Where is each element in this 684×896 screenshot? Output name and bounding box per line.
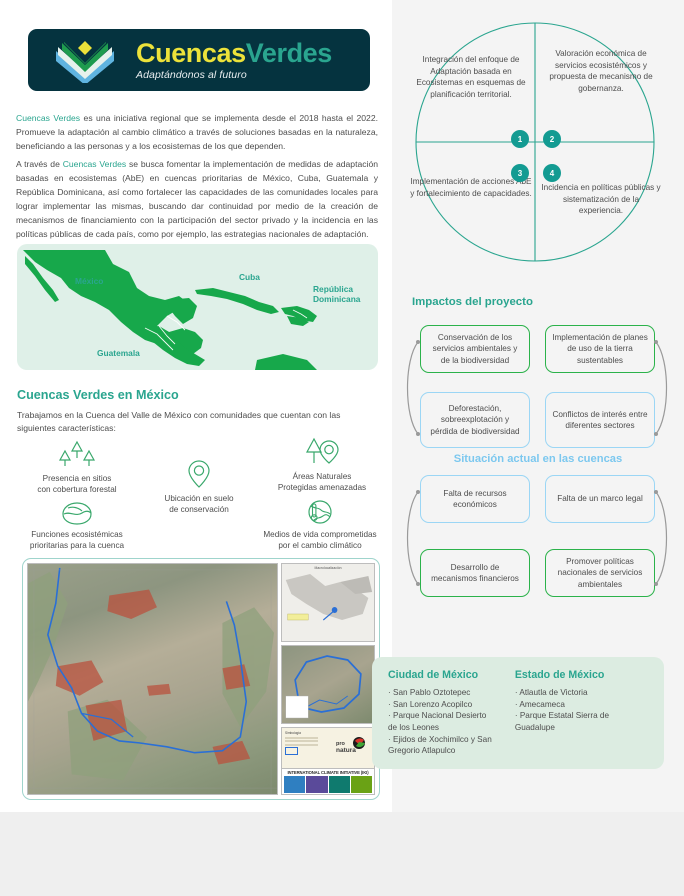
intro-p2-pre: A través de xyxy=(16,159,63,169)
map-label-mexico: México xyxy=(75,276,103,286)
satellite-legend: Simbología xyxy=(282,728,330,768)
pronatura-mark-small: pro natura xyxy=(335,736,369,760)
locations-cdmx-title: Ciudad de México xyxy=(388,669,515,681)
locations-column-cdmx: Ciudad de México · San Pablo Oztotepec ·… xyxy=(388,669,515,757)
macro-inset-shapes xyxy=(282,564,374,641)
iki-block: INTERNATIONAL CLIMATE INITIATIVE (IKI) xyxy=(282,768,374,794)
mexico-section-title: Cuencas Verdes en México xyxy=(17,388,179,402)
list-item: Gregorio Atlapulco xyxy=(388,745,515,757)
map-pin-icon xyxy=(184,458,214,490)
feature-climate-caption: Medios de vida comprometidas por el camb… xyxy=(250,529,390,552)
arrow-arc-left-lower xyxy=(400,480,422,598)
region-map: México Cuba República Dominicana Guatema… xyxy=(17,244,378,370)
quadrant-4-text: Incidencia en políticas públicas y siste… xyxy=(540,182,662,217)
list-item: · Atlautla de Victoria xyxy=(515,687,648,699)
feature-climate: Medios de vida comprometidas por el camb… xyxy=(250,498,390,552)
climate-globe-icon xyxy=(305,498,335,526)
list-item: · San Lorenzo Acopilco xyxy=(388,699,515,711)
intro-p2-lead: Cuencas Verdes xyxy=(63,159,127,169)
impact-box-8: Promover políticas nacionales de servici… xyxy=(545,549,655,597)
list-item: de los Leones xyxy=(388,722,515,734)
satellite-inset-basin xyxy=(281,645,375,724)
region-map-shapes xyxy=(17,244,378,370)
satellite-legend-block: Simbología pro natura xyxy=(281,727,375,795)
impact-box-7: Desarrollo de mecanismos financieros xyxy=(420,549,530,597)
intro-paragraph-1: Cuencas Verdes es una iniciativa regiona… xyxy=(16,112,378,154)
feature-location: Ubicación en suelo de conservación xyxy=(140,458,258,516)
forest-trees-icon xyxy=(55,440,99,470)
feature-protected-area: Áreas Naturales Protegidas amenazadas xyxy=(258,436,386,494)
list-item: · Parque Nacional Desierto xyxy=(388,710,515,722)
quadrant-2-text: Valoración económica de servicios ecosis… xyxy=(540,48,662,95)
ecosystem-leaf-icon xyxy=(60,500,94,526)
quadrant-4-badge: 4 xyxy=(543,164,561,182)
impact-box-1: Conservación de los servicios ambientale… xyxy=(420,325,530,373)
infographic-page: CuencasVerdes Adaptándonos al futuro Cue… xyxy=(0,0,684,896)
mexico-section-subtitle: Trabajamos en la Cuenca del Valle de Méx… xyxy=(17,409,367,436)
satellite-map-figure: Macrolocalización Simbología xyxy=(22,558,380,800)
map-label-cuba: Cuba xyxy=(239,272,260,282)
locations-column-edomex: Estado de México · Atlautla de Victoria … xyxy=(515,669,648,757)
legend-title: Simbología xyxy=(285,731,327,735)
intro-p2-rest: se busca fomentar la implementación de m… xyxy=(16,159,378,239)
iki-title: INTERNATIONAL CLIMATE INITIATIVE (IKI) xyxy=(284,770,372,775)
list-item: · Amecameca xyxy=(515,699,648,711)
intro-paragraph-2: A través de Cuencas Verdes se busca fome… xyxy=(16,158,378,242)
feature-ecosystem: Funciones ecosistémicas prioritarias par… xyxy=(12,500,142,552)
logo-tagline: Adaptándonos al futuro xyxy=(136,70,332,81)
feature-location-caption: Ubicación en suelo de conservación xyxy=(140,493,258,516)
list-item: · Ejidos de Xochimilco y San xyxy=(388,734,515,746)
feature-forest: Presencia en sitios con cobertura forest… xyxy=(14,440,140,496)
locations-card: Ciudad de México · San Pablo Oztotepec ·… xyxy=(372,657,664,769)
satellite-overlay xyxy=(28,564,277,794)
locations-edomex-title: Estado de México xyxy=(515,669,648,681)
satellite-main-view xyxy=(27,563,278,795)
map-label-guatemala: Guatemala xyxy=(97,348,140,358)
macro-inset-title: Macrolocalización xyxy=(282,566,374,570)
impact-box-6: Falta de un marco legal xyxy=(545,475,655,523)
svg-text:natura: natura xyxy=(336,747,356,754)
intro-p1-lead: Cuencas Verdes xyxy=(16,113,80,123)
map-label-republica-dominicana: República Dominicana xyxy=(313,285,360,305)
logo-word-verdes: Verdes xyxy=(246,38,332,68)
quadrant-3-badge: 3 xyxy=(511,164,529,182)
logo-word-cuencas: Cuencas xyxy=(136,38,246,68)
basin-inset-shapes xyxy=(282,646,374,723)
satellite-pronatura-logo: pro natura xyxy=(330,728,374,768)
arrow-arc-left-upper xyxy=(400,330,422,448)
cuencas-verdes-mark xyxy=(42,37,128,83)
situacion-actual-title: Situación actual en las cuencas xyxy=(392,453,684,465)
list-item: · San Pablo Oztotepec xyxy=(388,687,515,699)
impacts-title: Impactos del proyecto xyxy=(412,296,533,308)
feature-ecosystem-caption: Funciones ecosistémicas prioritarias par… xyxy=(12,529,142,552)
satellite-inset-macro: Macrolocalización xyxy=(281,563,375,642)
impact-box-3: Deforestación, sobreexplotación y pérdid… xyxy=(420,392,530,448)
quadrant-1-badge: 1 xyxy=(511,130,529,148)
impact-box-4: Conflictos de interés entre diferentes s… xyxy=(545,392,655,448)
impact-box-2: Implementación de planes de uso de la ti… xyxy=(545,325,655,373)
arrow-arc-right-upper xyxy=(652,330,674,448)
feature-protected-area-caption: Áreas Naturales Protegidas amenazadas xyxy=(258,471,386,494)
impact-box-5: Falta de recursos económicos xyxy=(420,475,530,523)
quadrant-2-badge: 2 xyxy=(543,130,561,148)
brand-logo: CuencasVerdes Adaptándonos al futuro xyxy=(28,29,370,91)
satellite-scale-bar xyxy=(34,784,184,788)
footer-bar: pro natura NATURALEZA CENTRO PARA LA EDU… xyxy=(0,812,684,896)
arrow-arc-right-lower xyxy=(652,480,674,598)
objectives-circle-diagram: Integración del enfoque de Adaptación ba… xyxy=(402,18,668,266)
quadrant-1-text: Integración del enfoque de Adaptación ba… xyxy=(410,54,532,101)
protected-area-icon xyxy=(301,436,343,468)
list-item: · Parque Estatal Sierra de Guadalupe xyxy=(515,710,648,733)
feature-forest-caption: Presencia en sitios con cobertura forest… xyxy=(14,473,140,496)
